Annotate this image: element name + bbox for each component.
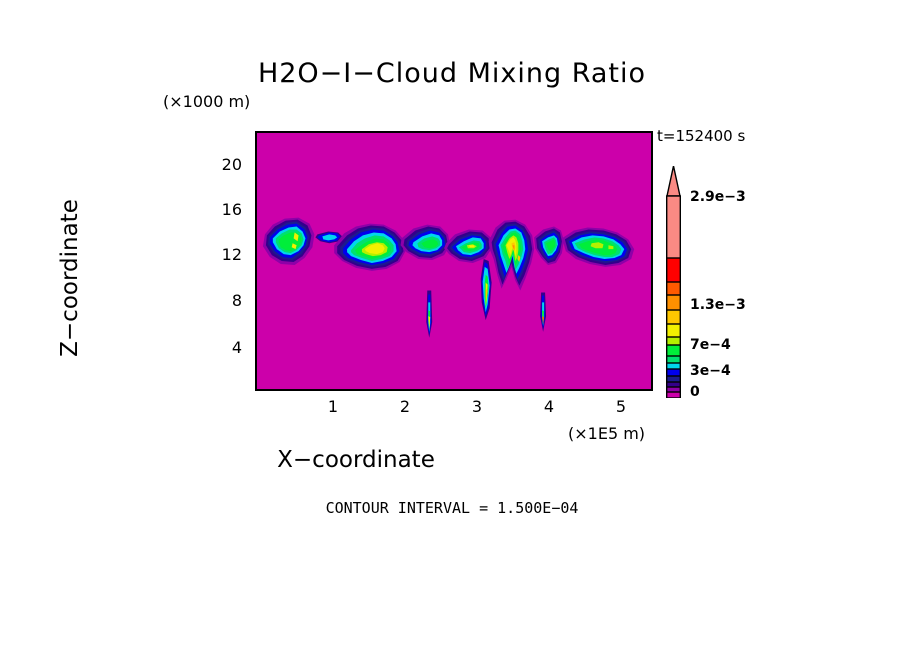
- x-tick-label-1: 1: [318, 397, 348, 416]
- colorbar-label-max: 2.9e−3: [690, 189, 746, 205]
- colorbar-top-arrow: [667, 166, 680, 196]
- contour-field: [257, 133, 651, 389]
- contour-plot-area: [255, 131, 653, 391]
- y-tick-label-20: 20: [202, 155, 242, 174]
- colorbar-bands: [667, 196, 681, 398]
- x-tick-label-4: 4: [534, 397, 564, 416]
- page-title: H2O−I−Cloud Mixing Ratio: [0, 58, 904, 89]
- colorbar-label-7e4: 7e−4: [690, 337, 731, 353]
- x-tick-label-3: 3: [462, 397, 492, 416]
- y-tick-label-4: 4: [202, 338, 242, 357]
- contour-interval-label: CONTOUR INTERVAL = 1.500E−04: [0, 499, 904, 517]
- colorbar: 2.9e−3 1.3e−3 7e−4 3e−4 0: [666, 166, 786, 398]
- y-axis-title: Z−coordinate: [57, 148, 83, 408]
- y-tick-label-16: 16: [202, 200, 242, 219]
- y-tick-label-12: 12: [202, 245, 242, 264]
- y-tick-label-8: 8: [202, 291, 242, 310]
- colorbar-label-3e4: 3e−4: [690, 363, 731, 379]
- time-annotation: t=152400 s: [657, 127, 745, 145]
- x-tick-label-2: 2: [390, 397, 420, 416]
- x-axis-unit-label: (×1E5 m): [568, 424, 645, 443]
- colorbar-scale: [666, 166, 686, 398]
- x-tick-label-5: 5: [606, 397, 636, 416]
- colorbar-label-zero: 0: [690, 384, 700, 400]
- x-axis-title: X−coordinate: [0, 447, 712, 473]
- y-axis-unit-label: (×1000 m): [163, 92, 250, 111]
- colorbar-label-1p3e3: 1.3e−3: [690, 297, 746, 313]
